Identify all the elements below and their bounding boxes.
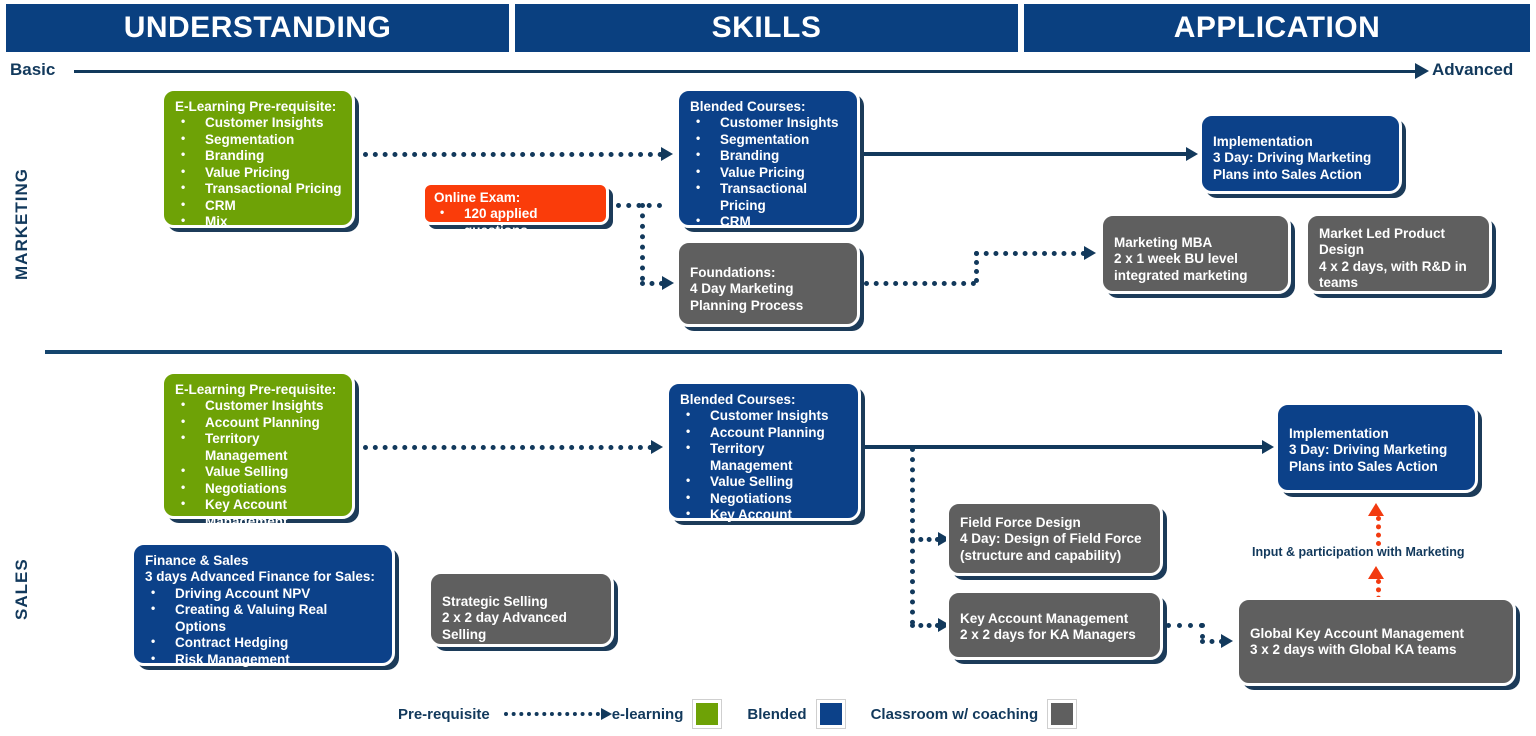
list-item: Transactional Pricing (690, 181, 847, 214)
connector-exam-down (640, 203, 645, 281)
list-item: Driving Account NPV (145, 586, 382, 602)
sales-global-kam-box[interactable]: Global Key Account Management 3 x 2 days… (1236, 597, 1516, 686)
text-line: Implementation (1289, 426, 1465, 442)
text-line: (structure and capability) (960, 548, 1150, 564)
sales-finance-list: Driving Account NPV Creating & Valuing R… (145, 586, 382, 668)
legend-elearning-label: e-learning (612, 706, 684, 723)
connector-blended-to-implementation (864, 152, 1189, 156)
marketing-elearning-title: E-Learning Pre-requisite: (175, 99, 342, 115)
list-item: Mix (175, 214, 342, 230)
marketing-foundations-box[interactable]: Foundations: 4 Day Marketing Planning Pr… (676, 240, 860, 327)
legend-blended-label: Blended (747, 706, 806, 723)
marketing-product-design-box[interactable]: Market Led Product Design 4 x 2 days, wi… (1305, 213, 1492, 294)
text-line: 2 x 2 days for KA Managers (960, 627, 1150, 643)
text-line: 2 x 1 week BU level (1114, 251, 1278, 267)
column-header-understanding: UNDERSTANDING (6, 4, 509, 52)
list-item: Transactional Pricing (175, 181, 342, 197)
list-item: Creating & Valuing Real Options (145, 602, 382, 635)
row-divider (45, 350, 1502, 354)
connector-elearning-to-blended (363, 152, 663, 157)
connector-kam-down (1200, 623, 1205, 639)
marketing-elearning-box[interactable]: E-Learning Pre-requisite: Customer Insig… (161, 88, 355, 228)
connector-sales-branch-down (910, 447, 915, 625)
marketing-mba-box[interactable]: Marketing MBA 2 x 1 week BU level integr… (1100, 213, 1291, 294)
list-item: 120 applied questions (434, 206, 598, 239)
connector-input-upper-dotted (1376, 516, 1381, 546)
connector-arrow-icon (1186, 147, 1198, 161)
marketing-online-exam-title: Online Exam: (434, 190, 598, 206)
legend-swatch-blended (817, 700, 845, 728)
connector-sales-elearning-to-blended (363, 445, 653, 450)
connector-arrow-icon (651, 440, 663, 454)
legend-classroom-label: Classroom w/ coaching (871, 706, 1039, 723)
list-item: Segmentation (690, 132, 847, 148)
axis-line (74, 70, 1419, 73)
sales-kam-box[interactable]: Key Account Management 2 x 2 days for KA… (946, 590, 1163, 660)
sales-implementation-box[interactable]: Implementation 3 Day: Driving Marketing … (1275, 402, 1478, 493)
roadmap-diagram: UNDERSTANDING SKILLS APPLICATION Basic A… (0, 0, 1536, 736)
connector-arrow-icon (1221, 634, 1233, 648)
connector-foundations-right (864, 281, 976, 286)
text-line: 4 Day: Design of Field Force (960, 531, 1150, 547)
text-line: Plans into Sales Action (1213, 167, 1389, 183)
list-item: Territory Management (680, 441, 848, 474)
column-header-application: APPLICATION (1024, 4, 1530, 52)
text-line: 2 x 2 day Advanced (442, 610, 601, 626)
connector-kam-right (1166, 623, 1204, 628)
text-line: Planning Process (690, 298, 847, 314)
connector-arrow-icon (1084, 246, 1096, 260)
connector-sales-blended-to-implementation (865, 445, 1265, 449)
list-item: Account Planning (175, 415, 342, 431)
legend-prerequisite-label: Pre-requisite (398, 706, 490, 723)
marketing-online-exam-box[interactable]: Online Exam: 120 applied questions (422, 182, 609, 225)
connector-arrow-up-icon (1368, 566, 1384, 579)
marketing-blended-title: Blended Courses: (690, 99, 847, 115)
legend-dashed-arrow-icon (504, 712, 600, 716)
text-line: Global Key Account Management (1250, 626, 1503, 642)
marketing-elearning-list: Customer Insights Segmentation Branding … (175, 115, 342, 230)
text-line: Foundations: (690, 265, 847, 281)
row-label-sales: SALES (12, 558, 32, 620)
column-header-understanding-label: UNDERSTANDING (124, 11, 392, 45)
legend-swatch-elearning (693, 700, 721, 728)
list-item: Account Planning (680, 425, 848, 441)
marketing-blended-list: Customer Insights Segmentation Branding … (690, 115, 847, 247)
connector-exam-right (616, 203, 662, 208)
list-item: Risk Management (145, 652, 382, 668)
list-item: Customer Insights (175, 115, 342, 131)
sales-elearning-list: Customer Insights Account Planning Terri… (175, 398, 342, 530)
row-label-marketing: MARKETING (12, 168, 32, 280)
text-line: Market Led Product (1319, 226, 1479, 242)
connector-arrow-up-icon (1368, 503, 1384, 516)
list-item: Negotiations (680, 491, 848, 507)
text-line: 3 x 2 days with Global KA teams (1250, 642, 1503, 658)
list-item: Customer Insights (175, 398, 342, 414)
text-line: Key Account Management (960, 611, 1150, 627)
text-line: Plans into Sales Action (1289, 459, 1465, 475)
list-item: Value Pricing (690, 165, 847, 181)
text-line: Strategic Selling (442, 594, 601, 610)
connector-exam-to-foundations (640, 281, 664, 286)
sales-field-force-box[interactable]: Field Force Design 4 Day: Design of Fiel… (946, 501, 1163, 576)
connector-to-field-force (910, 537, 940, 542)
text-line: 4 Day Marketing (690, 281, 847, 297)
text-line: Design (1319, 242, 1479, 258)
list-item: Segmentation (175, 132, 342, 148)
list-item: Customer Insights (690, 115, 847, 131)
input-participation-note: Input & participation with Marketing (1252, 545, 1465, 559)
text-line: 3 days Advanced Finance for Sales: (145, 569, 382, 585)
sales-blended-title: Blended Courses: (680, 392, 848, 408)
connector-arrow-icon (661, 147, 673, 161)
list-item: Contract Hedging (145, 635, 382, 651)
list-item: Negotiations (175, 481, 342, 497)
text-line: 3 Day: Driving Marketing (1213, 150, 1389, 166)
legend: Pre-requisite e-learning Blended Classro… (398, 700, 1102, 728)
marketing-blended-box[interactable]: Blended Courses: Customer Insights Segme… (676, 88, 860, 228)
column-header-skills: SKILLS (515, 4, 1018, 52)
text-line: integrated marketing (1114, 268, 1278, 284)
connector-arrow-icon (662, 276, 674, 290)
text-line: Marketing MBA (1114, 235, 1278, 251)
column-header-application-label: APPLICATION (1174, 11, 1381, 45)
list-item: Value Selling (680, 474, 848, 490)
sales-blended-box[interactable]: Blended Courses: Customer Insights Accou… (666, 381, 861, 521)
text-line: Selling (442, 627, 601, 643)
sales-elearning-title: E-Learning Pre-requisite: (175, 382, 342, 398)
list-item: CRM (175, 198, 342, 214)
list-item: Territory Management (175, 431, 342, 464)
text-line: 3 Day: Driving Marketing (1289, 442, 1465, 458)
axis-end-label: Advanced (1432, 60, 1513, 80)
list-item: Customer Insights (680, 408, 848, 424)
list-item: Value Pricing (175, 165, 342, 181)
connector-arrow-icon (1262, 440, 1274, 454)
column-header-skills-label: SKILLS (712, 11, 822, 45)
connector-foundations-to-mba (974, 251, 1086, 256)
sales-finance-box[interactable]: Finance & Sales 3 days Advanced Finance … (131, 542, 395, 666)
axis-start-label: Basic (10, 60, 55, 80)
list-item: Branding (175, 148, 342, 164)
marketing-online-exam-list: 120 applied questions (434, 206, 598, 239)
marketing-implementation-box[interactable]: Implementation 3 Day: Driving Marketing … (1199, 113, 1402, 194)
text-line: Field Force Design (960, 515, 1150, 531)
legend-swatch-classroom (1048, 700, 1076, 728)
text-line: Finance & Sales (145, 553, 382, 569)
sales-blended-list: Customer Insights Account Planning Terri… (680, 408, 848, 540)
connector-to-kam (910, 623, 940, 628)
text-line: Implementation (1213, 134, 1389, 150)
sales-strategic-selling-box[interactable]: Strategic Selling 2 x 2 day Advanced Sel… (428, 571, 614, 647)
list-item: Value Selling (175, 464, 342, 480)
text-line: teams (1319, 275, 1479, 291)
axis-arrow-icon (1415, 63, 1429, 79)
text-line: 4 x 2 days, with R&D in (1319, 259, 1479, 275)
list-item: Key Account Management (680, 507, 848, 540)
sales-elearning-box[interactable]: E-Learning Pre-requisite: Customer Insig… (161, 371, 355, 519)
list-item: CRM (690, 214, 847, 230)
list-item: Key Account Management (175, 497, 342, 530)
list-item: Branding (690, 148, 847, 164)
